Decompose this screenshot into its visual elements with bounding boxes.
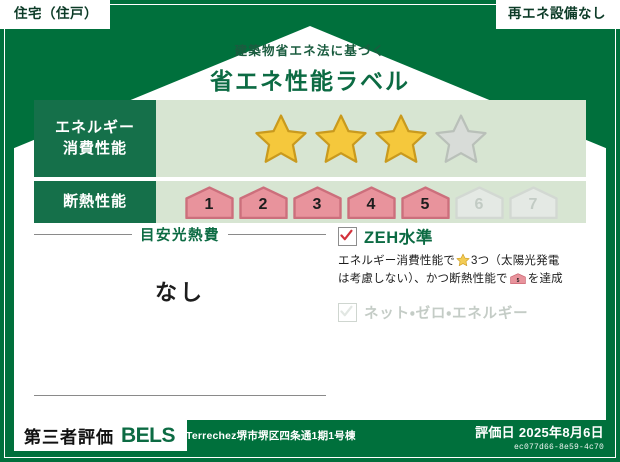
evaluation-date-value: 2025年8月6日 [519,425,604,440]
page-title: 省エネ性能ラベル [14,62,606,96]
zeh-desc-part1: エネルギー消費性能で [338,255,455,267]
utility-cost-heading: 目安光熱費 [34,224,326,245]
insulation-level-scale: 1234567 [184,186,559,219]
star-icon-filled [313,112,369,166]
energy-performance-label: エネルギー 消費性能 [34,100,156,177]
utility-cost-bottom-rule [34,395,326,396]
lower-section: 目安光熱費 なし ZEH水準 エネルギー消費性能で3つ（太陽光発電 [34,222,586,414]
evaluation-id: ec077d66-8e59-4c70 [475,443,604,452]
energy-performance-row: エネルギー 消費性能 [34,100,586,177]
star-icon-filled [253,112,309,166]
insulation-level-6: 6 [454,186,505,219]
renewable-equipment-tag: 再エネ設備なし [496,0,620,29]
label-body-content: 建築物省エネ法に基づく 省エネ性能ラベル エネルギー 消費性能 断熱性能 [14,26,606,420]
zeh-desc-part3: を達成 [528,273,563,285]
insulation-level-3: 3 [292,186,343,219]
insulation-level-number: 5 [421,197,430,219]
building-type-tag: 住宅（住戸） [0,0,110,29]
insulation-level-5: 5 [400,186,451,219]
star-icon-filled [373,112,429,166]
star-rating [253,112,489,166]
insulation-level-number: 4 [367,197,376,219]
insulation-performance-label: 断熱性能 [34,181,156,223]
insulation-level-number: 7 [529,197,538,219]
zeh-description: エネルギー消費性能で3つ（太陽光発電 は考慮しない）、かつ断熱性能で5を達成 [338,253,586,289]
check-icon [340,229,353,242]
energy-performance-label: 住宅（住戸） 再エネ設備なし 建築物省エネ法に基づく 省エネ性能ラベル エネルギ… [0,0,620,462]
net-zero-energy-label: ネット・ゼロ・エネルギー [364,302,528,323]
insulation-performance-value: 1234567 [156,181,586,223]
performance-section: エネルギー 消費性能 断熱性能 1234567 [34,100,586,227]
heading-rule-left [34,234,132,235]
energy-label-line1: エネルギー [55,118,135,138]
evaluation-date-label: 評価日 [475,425,515,440]
net-zero-energy-row: ネット・ゼロ・エネルギー [338,302,586,323]
insulation-level-7: 7 [508,186,559,219]
zeh-desc-star-count: 3つ（太陽光発電 [471,255,560,267]
energy-label-line2: 消費性能 [63,139,127,159]
insulation-level-number: 2 [259,197,268,219]
insulation-performance-row: 断熱性能 1234567 [34,181,586,223]
svg-text:5: 5 [516,278,519,284]
bels-certification-box: 第三者評価 BELS [14,420,187,451]
label-footer: 第三者評価 BELS Terrechez堺市堺区四条通1期1号棟 評価日 202… [0,414,620,462]
insulation-level-2: 2 [238,186,289,219]
evaluation-info: 評価日 2025年8月6日 ec077d66-8e59-4c70 [475,422,604,452]
check-icon-disabled [340,305,353,318]
insulation-level-number: 6 [475,197,484,219]
utility-cost-section: 目安光熱費 なし [34,222,334,414]
evaluation-date: 評価日 2025年8月6日 [475,422,604,441]
third-party-label: 第三者評価 [24,423,114,448]
zeh-checkbox[interactable] [338,227,357,246]
label-title-block: 建築物省エネ法に基づく 省エネ性能ラベル [14,40,606,96]
net-zero-energy-checkbox[interactable] [338,303,357,322]
title-subtitle: 建築物省エネ法に基づく [14,40,606,59]
zeh-section: ZEH水準 エネルギー消費性能で3つ（太陽光発電 は考慮しない）、かつ断熱性能で… [334,222,586,414]
heading-rule-right [228,234,326,235]
zeh-heading: ZEH水準 [338,224,586,248]
mini-star-icon [456,253,470,267]
mini-house-badge-icon: 5 [510,272,526,285]
bels-logo: BELS [121,424,175,448]
star-icon-empty [433,112,489,166]
insulation-level-1: 1 [184,186,235,219]
building-name: Terrechez堺市堺区四条通1期1号棟 [186,428,356,443]
insulation-level-number: 3 [313,197,322,219]
utility-cost-title: 目安光熱費 [140,224,220,245]
utility-cost-value: なし [34,275,326,307]
zeh-title: ZEH水準 [364,224,433,248]
zeh-desc-part2: は考慮しない）、かつ断熱性能で [338,273,508,285]
insulation-level-4: 4 [346,186,397,219]
insulation-level-number: 1 [205,197,214,219]
insulation-label-line1: 断熱性能 [63,192,127,212]
energy-performance-value [156,100,586,177]
